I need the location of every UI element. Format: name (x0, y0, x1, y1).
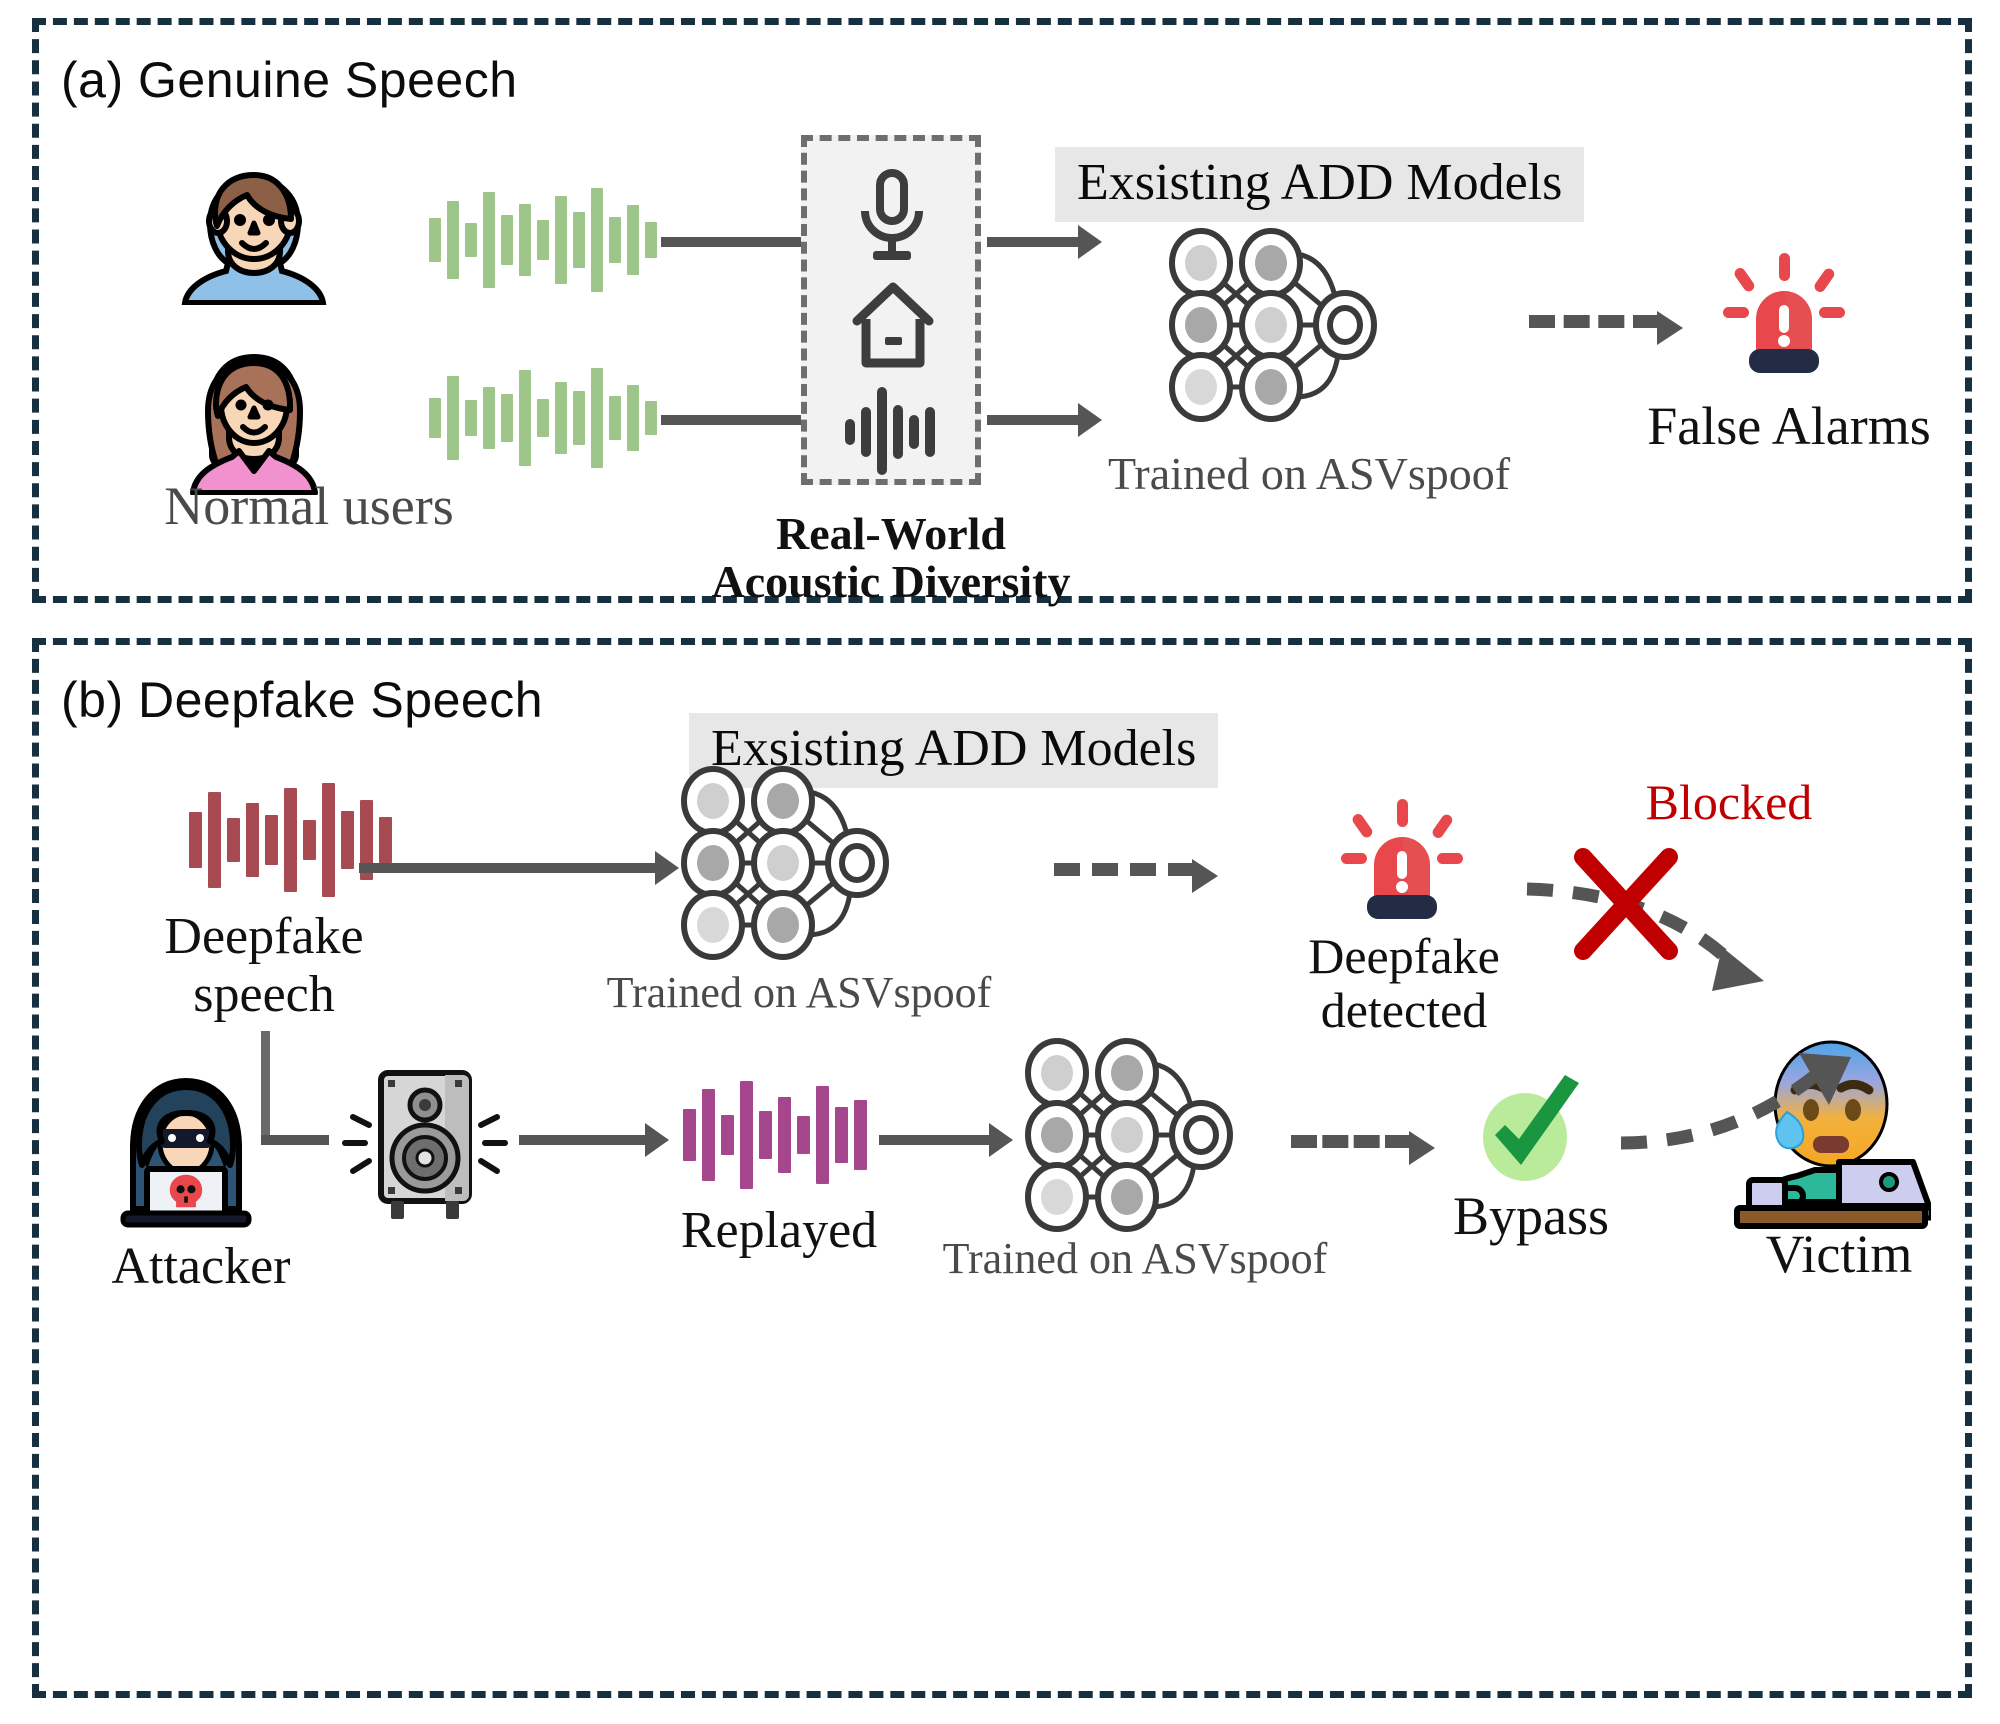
house-icon (849, 279, 937, 371)
loudspeaker-icon (335, 1063, 515, 1228)
genuine-waveform-2 (429, 363, 657, 473)
attacker-label: Attacker (71, 1237, 331, 1296)
arrow-box-to-model-top (987, 237, 1082, 247)
real-world-acoustic-box (801, 135, 981, 485)
panel-a-title: (a) Genuine Speech (61, 51, 518, 109)
male-user-avatar (179, 165, 329, 305)
model-caption-b-bottom: Trained on ASVspoof (915, 1233, 1355, 1284)
bypass-label: Bypass (1391, 1185, 1671, 1247)
normal-users-label: Normal users (149, 475, 469, 537)
green-check-icon (1467, 1073, 1591, 1191)
genuine-waveform-1 (429, 185, 657, 295)
replayed-waveform (683, 1075, 867, 1195)
arrow-model-to-bypass (1291, 1135, 1411, 1148)
waveform-icon (841, 385, 947, 477)
connector-line-top (661, 237, 809, 247)
blocked-path-group (1517, 823, 1937, 1043)
acoustic-caption-line1: Real-World (741, 507, 1041, 560)
deepfake-speech-label-line1: Deepfake (99, 907, 429, 966)
deepfake-speech-label-line2: speech (99, 965, 429, 1024)
replayed-label: Replayed (619, 1201, 939, 1260)
neural-network-b-bottom (1015, 1035, 1255, 1235)
deepfake-waveform (189, 780, 392, 900)
panel-deepfake-speech: (b) Deepfake Speech Exsisting ADD Models… (32, 638, 1972, 1698)
victim-label: Victim (1699, 1223, 1979, 1285)
female-user-avatar (179, 345, 329, 495)
model-caption-b-top: Trained on ASVspoof (579, 967, 1019, 1018)
arrow-model-to-alarm (1529, 315, 1659, 328)
acoustic-caption-line2: Acoustic Diversity (681, 555, 1101, 608)
arrow-box-to-model-bottom (987, 415, 1082, 425)
panel-genuine-speech: (a) Genuine Speech Normal users (32, 18, 1972, 603)
arrow-model-to-detection (1054, 863, 1194, 876)
arrow-deepfake-to-model (359, 863, 659, 873)
false-alarms-label: False Alarms (1609, 395, 1969, 457)
branch-line-horizontal (261, 1135, 329, 1145)
hacker-laptop-icon (101, 1073, 271, 1233)
alarm-light-icon-b (1337, 797, 1467, 927)
microphone-icon (851, 167, 933, 265)
alarm-light-icon-a (1719, 251, 1849, 381)
neural-network-a (1159, 225, 1399, 425)
model-caption-a: Trained on ASVspoof (1099, 447, 1519, 500)
arrow-replayed-to-model (879, 1135, 993, 1145)
neural-network-b-top (671, 763, 911, 963)
model-header-a: Exsisting ADD Models (1055, 147, 1584, 222)
connector-line-bottom (661, 415, 809, 425)
arrow-bypass-to-victim (1613, 1037, 1913, 1167)
arrow-speaker-to-replayed (519, 1135, 649, 1145)
panel-b-title: (b) Deepfake Speech (61, 671, 543, 729)
